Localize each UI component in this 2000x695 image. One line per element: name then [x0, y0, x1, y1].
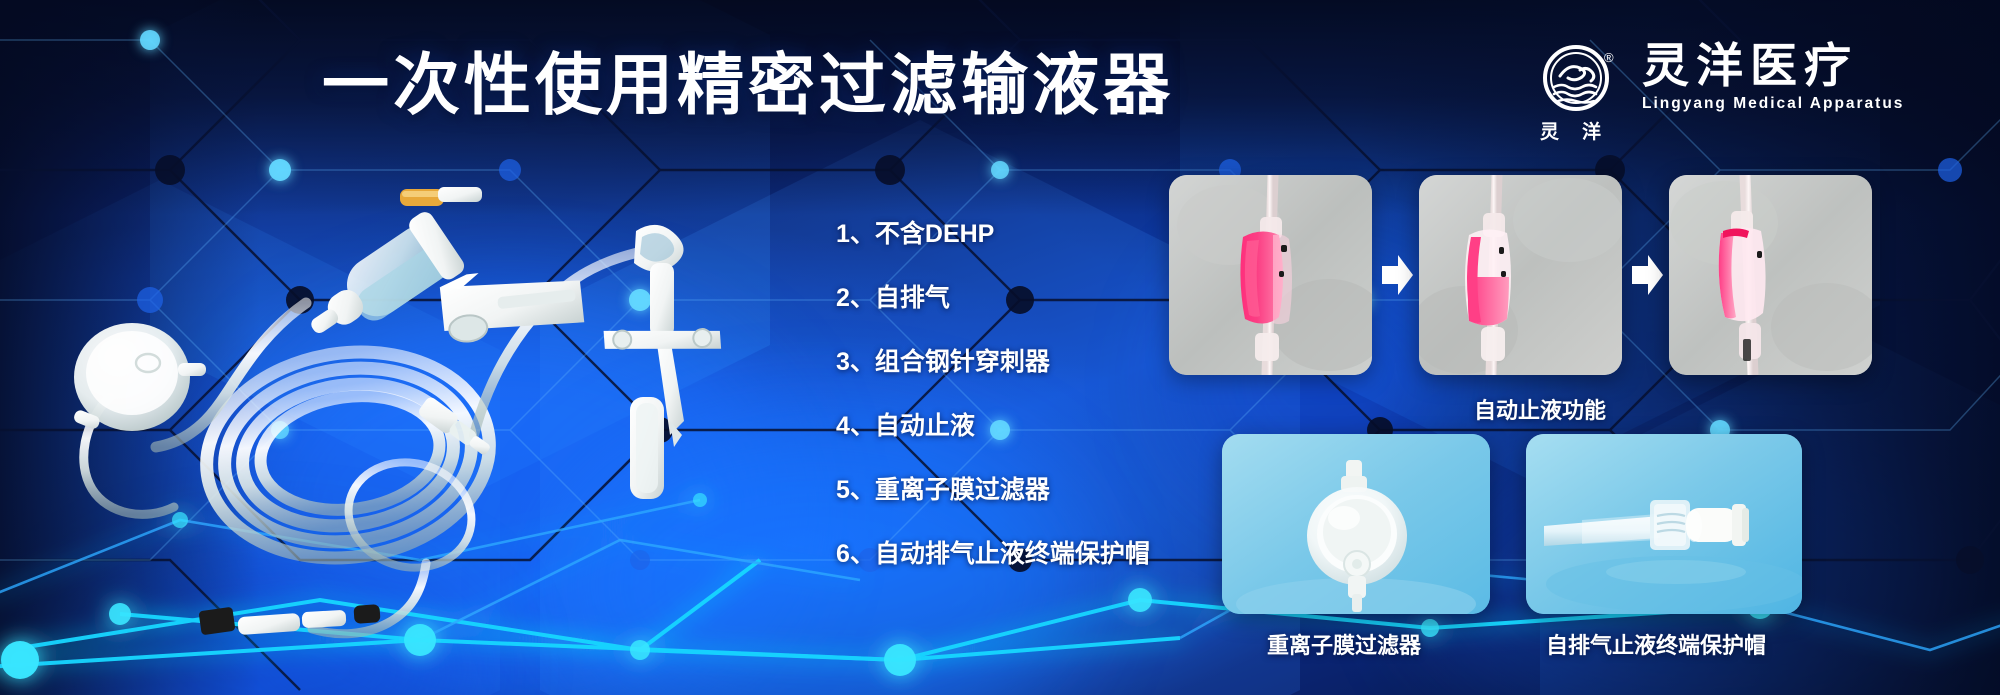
- round-filter-part: [72, 323, 206, 431]
- protector-tube-part: [630, 397, 664, 499]
- brand-name-cn: 灵洋医疗: [1642, 42, 1904, 91]
- emblem-label-left: 灵: [1540, 121, 1560, 143]
- roller-clamp-part: [439, 263, 585, 344]
- heavy-ion-membrane-filter-caption: 重离子膜过滤器: [1267, 628, 1421, 660]
- registered-symbol: ®: [1604, 50, 1614, 65]
- auto-stop-step-1-photo: [1169, 175, 1372, 375]
- feature-list: 1、不含DEHP 2、自排气 3、组合钢针穿刺器 4、自动止液 5、重离子膜过滤…: [836, 222, 1150, 567]
- auto-stop-function-caption: 自动止液功能: [1474, 393, 1606, 425]
- emblem-label-right: 洋: [1582, 120, 1601, 143]
- self-venting-terminal-protective-cap-photo: [1526, 434, 1802, 614]
- feature-item: 4、自动止液: [836, 414, 1150, 439]
- feature-item: 6、自动排气止液终端保护帽: [836, 542, 1150, 567]
- self-venting-cap-caption: 自排气止液终端保护帽: [1546, 628, 1766, 660]
- arrow-right-icon: [1630, 253, 1664, 297]
- feature-item: 1、不含DEHP: [836, 222, 1150, 247]
- feature-item: 2、自排气: [836, 286, 1150, 311]
- brand-logo: ® 灵 洋 灵洋医疗 Lingyang Medical Apparatus: [1536, 42, 1904, 144]
- auto-stop-step-2-photo: [1419, 175, 1622, 375]
- lingyang-circular-emblem-icon: ® 灵 洋: [1536, 42, 1624, 144]
- drip-chamber-part: [293, 209, 468, 359]
- hero-infusion-set-image: [70, 185, 790, 645]
- page-title: 一次性使用精密过滤输液器: [322, 52, 1174, 119]
- feature-item: 5、重离子膜过滤器: [836, 478, 1150, 503]
- feature-item: 3、组合钢针穿刺器: [836, 350, 1150, 375]
- brand-name-en: Lingyang Medical Apparatus: [1642, 95, 1904, 113]
- amber-spike-cap: [400, 187, 482, 206]
- auto-stop-step-3-photo: [1669, 175, 1872, 375]
- heavy-ion-membrane-filter-photo: [1222, 434, 1490, 614]
- arrow-right-icon: [1380, 253, 1414, 297]
- product-banner: 一次性使用精密过滤输液器 ® 灵 洋 灵洋医疗 Lingyang Medical…: [0, 0, 2000, 695]
